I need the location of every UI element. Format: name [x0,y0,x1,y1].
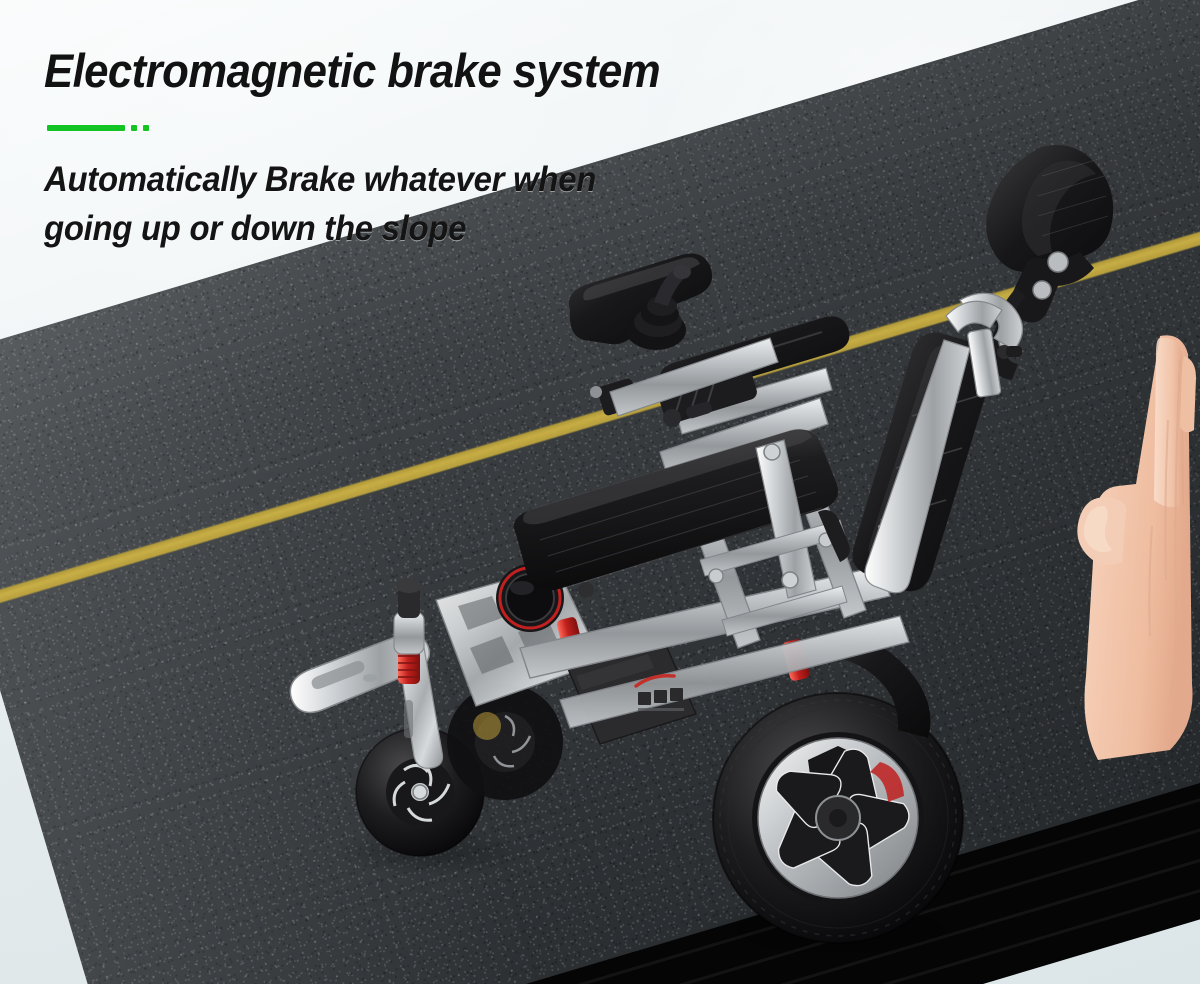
page-title: Electromagnetic brake system [44,46,751,97]
hand-stop-gesture [1074,330,1200,760]
divider-dot-1 [131,125,137,131]
subtitle-line-2: going up or down the slope [44,204,758,254]
headline-block: Electromagnetic brake system Automatical… [44,46,804,254]
headrest [986,145,1113,272]
subtitle-line-1: Automatically Brake whatever when [44,155,758,205]
divider-bar [47,125,125,131]
product-feature-banner: Electromagnetic brake system Automatical… [0,0,1200,984]
divider-dot-2 [143,125,149,131]
accent-divider [47,125,804,131]
front-caster-wheel-far [447,684,563,800]
